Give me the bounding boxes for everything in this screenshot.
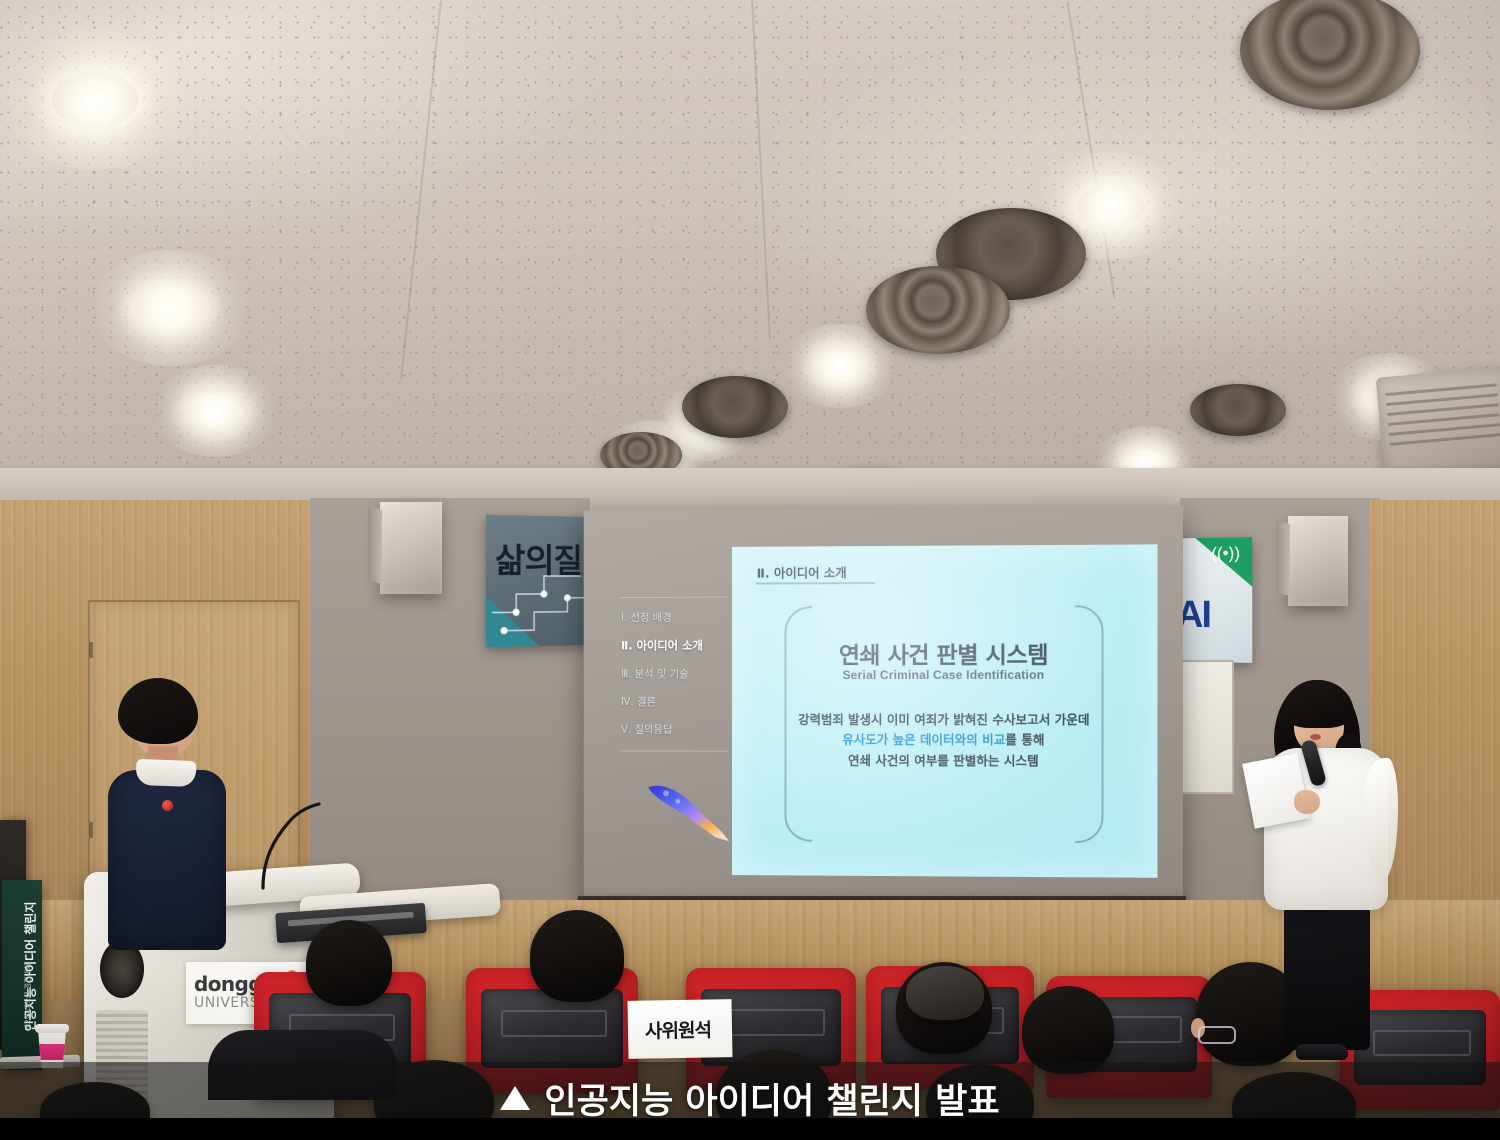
slide-section-header: Ⅱ. 아이디어 소개 [757, 562, 847, 581]
wall-speaker-right [1288, 516, 1348, 606]
ceiling-downlight [160, 372, 270, 450]
presenter-left-hair [118, 678, 198, 744]
slide-nav-item-1: Ⅰ. 선정 배경 [621, 610, 727, 625]
banner-left: 삶의질 [486, 515, 596, 648]
air-conditioner-unit [1376, 367, 1500, 483]
judges-seat-sign-text: 사위원석 [628, 1015, 733, 1044]
caption-container: 인공지능 아이디어 챌린지 발표 [500, 1073, 999, 1124]
slide-header-underline [756, 582, 875, 584]
caption-label: 인공지능 아이디어 챌린지 발표 [544, 1073, 999, 1124]
slide-navigation-list: Ⅰ. 선정 배경 Ⅱ. 아이디어 소개 Ⅲ. 분석 및 기술 Ⅳ. 결론 Ⅴ. … [621, 597, 727, 752]
presenter-right-shoe [1296, 1044, 1348, 1060]
ceiling-vent-diffuser [866, 266, 1010, 354]
audience-head [530, 910, 624, 1002]
slide-title-english: Serial Criminal Case Identification [784, 668, 1103, 682]
slide-body-line-1: 강력범죄 발생시 이미 여죄가 밝혀진 수사보고서 가운데 [790, 710, 1097, 730]
photo-scene: 삶의질 ((•)) 지 AI Ⅱ. 아이디어 소개 연쇄 사건 판별 시스템 S… [0, 0, 1500, 1140]
slide-body-text: 강력범죄 발생시 이미 여죄가 밝혀진 수사보고서 가운데 유사도가 높은 데이… [790, 710, 1097, 771]
ceiling-downlight [790, 330, 890, 402]
ceiling-vent-diffuser [1190, 384, 1286, 436]
nav-divider-top [621, 597, 727, 598]
slide-nav-item-4: Ⅳ. 결론 [621, 694, 727, 709]
presenter-left-torso [108, 770, 226, 950]
ceiling-vent-diffuser [682, 376, 788, 438]
slide-nav-item-3: Ⅲ. 분석 및 기술 [621, 666, 727, 681]
audience-eyeglasses [1198, 1026, 1236, 1044]
projection-screen: Ⅱ. 아이디어 소개 연쇄 사건 판별 시스템 Serial Criminal … [584, 506, 1183, 902]
presentation-slide: Ⅱ. 아이디어 소개 연쇄 사건 판별 시스템 Serial Criminal … [732, 544, 1157, 877]
triangle-up-icon [500, 1086, 530, 1110]
presenter-left-collar [136, 759, 197, 787]
gooseneck-microphone [255, 800, 325, 890]
slide-body-line-2-tail: 를 통해 [1005, 732, 1044, 747]
event-side-banner-subtext: 제2회 대학생 경진대회 [23, 927, 33, 1067]
wifi-icon: ((•)) [1211, 543, 1240, 564]
ceiling-downlight [10, 40, 180, 160]
audience-head [306, 920, 392, 1006]
presenter-right-hand [1294, 790, 1320, 814]
wall-speaker-left [380, 502, 442, 594]
presenter-left [100, 678, 240, 958]
presenter-right-trousers [1284, 900, 1370, 1050]
slide-nav-item-5: Ⅴ. 질의응답 [621, 722, 727, 737]
nav-divider-bottom [621, 751, 727, 752]
presenter-left-lapel-pin [162, 800, 173, 811]
slide-body-highlight: 유사도가 높은 데이터와의 비교 [842, 732, 1005, 747]
slide-body-line-2: 유사도가 높은 데이터와의 비교를 통해 [790, 730, 1097, 751]
audience-head [1022, 986, 1114, 1074]
audience-head [906, 966, 984, 1020]
slide-title-korean: 연쇄 사건 판별 시스템 [784, 635, 1103, 670]
banner-left-text: 삶의질 [495, 533, 582, 582]
judges-seat-sign: 사위원석 [628, 999, 733, 1059]
slide-idea-box: 연쇄 사건 판별 시스템 Serial Criminal Case Identi… [784, 605, 1103, 839]
presenter-right-lips [1310, 734, 1321, 740]
letterbox-bar [0, 1118, 1500, 1140]
slide-nav-item-2: Ⅱ. 아이디어 소개 [621, 637, 727, 653]
presenter-right-hair-front [1282, 680, 1354, 728]
thermal-gun-graphic [644, 775, 739, 847]
slide-body-line-3: 연쇄 사건의 여부를 판별하는 시스템 [790, 750, 1097, 771]
ceiling-downlight [100, 258, 240, 358]
